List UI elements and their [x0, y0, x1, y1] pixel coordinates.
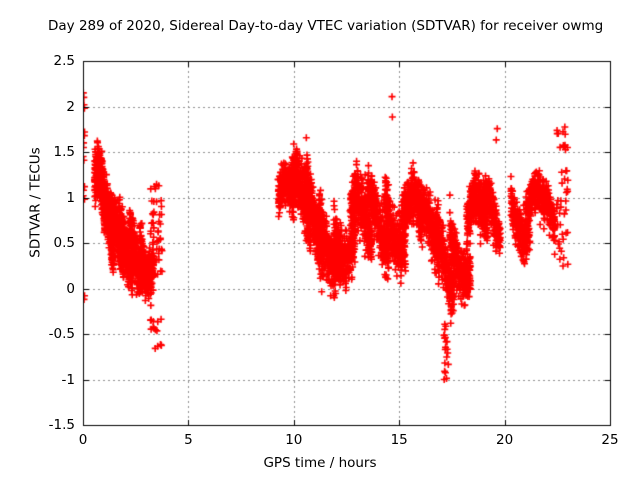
- x-tick-label: 0: [63, 432, 103, 448]
- scatter-plot-canvas: [0, 0, 640, 480]
- y-tick-label: 2: [29, 99, 75, 115]
- y-tick-label: 1: [29, 190, 75, 206]
- y-tick-label: -0.5: [29, 326, 75, 342]
- x-axis-label: GPS time / hours: [0, 455, 640, 471]
- x-tick-label: 15: [379, 432, 419, 448]
- y-tick-label: 1.5: [29, 144, 75, 160]
- x-tick-label: 5: [168, 432, 208, 448]
- y-tick-label: 2.5: [29, 53, 75, 69]
- y-tick-label: 0: [29, 281, 75, 297]
- y-tick-label: -1.5: [29, 417, 75, 433]
- x-tick-label: 10: [274, 432, 314, 448]
- x-tick-label: 20: [485, 432, 525, 448]
- x-tick-label: 25: [590, 432, 630, 448]
- chart-plot-area: Day 289 of 2020, Sidereal Day-to-day VTE…: [0, 0, 640, 480]
- y-tick-label: -1: [29, 372, 75, 388]
- y-tick-label: 0.5: [29, 235, 75, 251]
